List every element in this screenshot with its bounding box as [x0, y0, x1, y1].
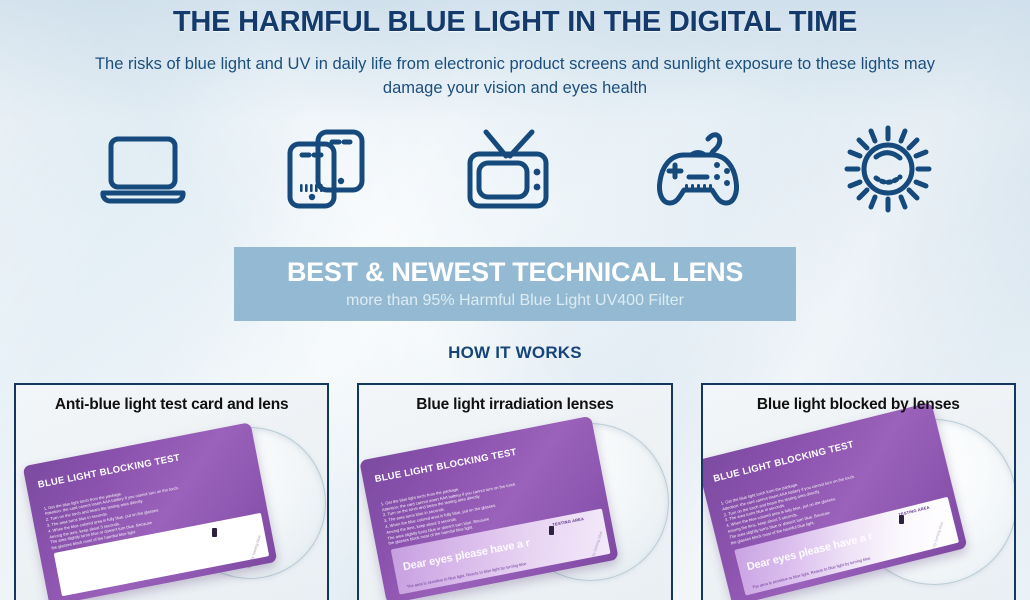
panel-illustration: BLUE LIGHT BLOCKING TEST 1. Get the blue…	[359, 385, 670, 600]
page-title: THE HARMFUL BLUE LIGHT IN THE DIGITAL TI…	[0, 0, 1030, 39]
laptop-icon	[97, 131, 189, 207]
panel-anti-blue-light-test-card: Anti-blue light test card and lens BLUE …	[14, 383, 329, 600]
panel-blue-light-blocked: Blue light blocked by lenses BLUE LIGHT …	[701, 383, 1016, 600]
sun-icon	[843, 124, 933, 214]
card-notch	[212, 528, 217, 537]
card-notch	[549, 526, 554, 535]
panel-illustration: BLUE LIGHT BLOCKING TEST 1. Get the blue…	[703, 385, 1014, 600]
technical-lens-banner: BEST & NEWEST TECHNICAL LENS more than 9…	[0, 247, 1030, 321]
gamepad-icon	[648, 127, 748, 211]
infographic-page: THE HARMFUL BLUE LIGHT IN THE DIGITAL TI…	[0, 0, 1030, 600]
television-icon	[462, 126, 554, 212]
banner-title: BEST & NEWEST TECHNICAL LENS	[287, 259, 743, 286]
panel-blue-light-irradiation: Blue light irradiation lenses BLUE LIGHT…	[357, 383, 672, 600]
panel-title: Blue light blocked by lenses	[703, 385, 1014, 414]
page-subtitle: The risks of blue light and UV in daily …	[0, 53, 1030, 101]
banner-subtitle: more than 95% Harmful Blue Light UV400 F…	[346, 293, 684, 309]
how-it-works-panels: Anti-blue light test card and lens BLUE …	[14, 383, 1016, 600]
panel-illustration: BLUE LIGHT BLOCKING TEST 1. Get the blue…	[16, 385, 327, 600]
panel-title: Blue light irradiation lenses	[359, 385, 670, 414]
panel-title: Anti-blue light test card and lens	[16, 385, 327, 414]
device-icon-row	[0, 119, 1030, 219]
testing-area-label: TESTING AREA	[552, 516, 584, 527]
card-notch	[899, 515, 904, 524]
how-it-works-heading: HOW IT WORKS	[0, 343, 1030, 363]
smartphones-icon	[284, 128, 368, 210]
